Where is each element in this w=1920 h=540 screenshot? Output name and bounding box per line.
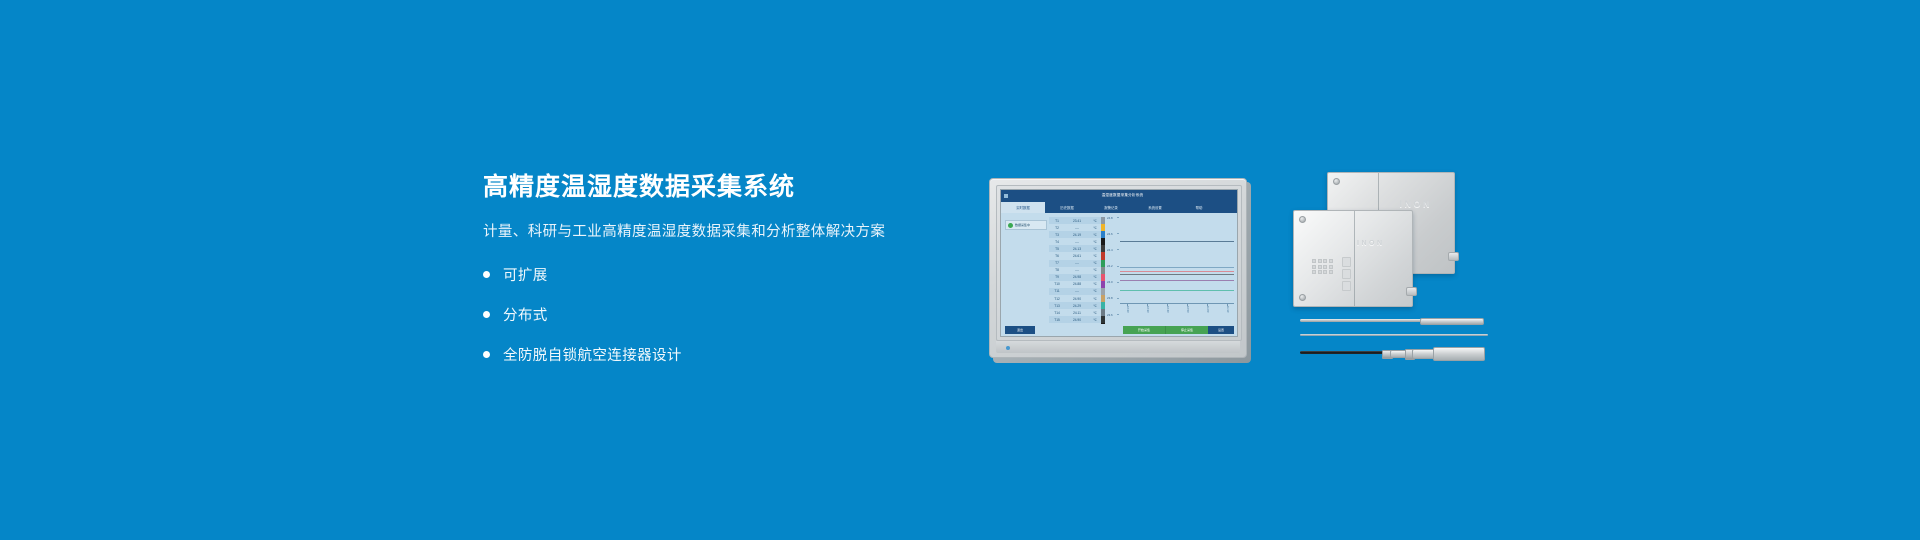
y-axis-tick (1117, 266, 1119, 267)
unit-cell: ℃ (1089, 289, 1101, 293)
channel-cell: T10 (1049, 282, 1065, 286)
unit-cell: ℃ (1089, 247, 1101, 251)
value-cell: 24.19 (1065, 233, 1089, 237)
value-cell: 24.90 (1065, 318, 1089, 322)
app-titlebar: 温湿度数据采集分析系统 (1001, 190, 1237, 201)
stop-acquisition-button[interactable]: 停止采集 (1165, 326, 1208, 334)
unit-cell: ℃ (1089, 226, 1101, 230)
value-cell: ---- (1065, 268, 1089, 272)
channel-cell: T12 (1049, 297, 1065, 301)
unit-cell: ℃ (1089, 297, 1101, 301)
table-row[interactable]: T1224.90℃ (1049, 295, 1101, 302)
value-cell: ---- (1065, 261, 1089, 265)
channel-cell: T15 (1049, 318, 1065, 322)
probe-stainless (1300, 316, 1490, 324)
etch-cell (1318, 270, 1322, 274)
bullet-dot-icon (483, 271, 490, 278)
trend-line (1120, 271, 1234, 272)
channel-cell: T1 (1049, 219, 1065, 223)
x-axis-tick-label: 10:40 (1166, 306, 1169, 313)
etch-cell (1323, 265, 1327, 269)
trend-line (1120, 274, 1234, 275)
brand-logo: INON (1357, 240, 1385, 247)
unit-cell: ℃ (1089, 318, 1101, 322)
connector-port-icon (1406, 287, 1417, 296)
tab-settings[interactable]: 系统设置 (1133, 202, 1177, 213)
channel-cell: T8 (1049, 268, 1065, 272)
value-cell: 24.98 (1065, 275, 1089, 279)
connector-housing (1433, 347, 1485, 361)
acquisition-status-label: 数据采集中 (1015, 223, 1030, 227)
app-body: 数据采集中 T123.41℃T2----℃T324.19℃T4----℃T524… (1001, 213, 1237, 324)
brand-logo: INON (1400, 199, 1433, 209)
monitor-screen: 温湿度数据采集分析系统 实时数据 历史数据 报警记录 系统设置 帮助 数据采集中… (1000, 189, 1238, 337)
value-cell: 24.90 (1065, 297, 1089, 301)
table-row[interactable]: T8----℃ (1049, 267, 1101, 274)
x-axis-tick-label: 10:30 (1146, 306, 1149, 313)
tab-help[interactable]: 帮助 (1177, 202, 1221, 213)
value-cell: ---- (1065, 289, 1089, 293)
app-title: 温湿度数据采集分析系统 (1008, 190, 1237, 201)
enclosure-seam (1354, 211, 1355, 306)
tab-alarms[interactable]: 报警记录 (1089, 202, 1133, 213)
table-row[interactable]: T1424.11℃ (1049, 309, 1101, 316)
series-color-swatch (1101, 252, 1105, 259)
settings-button[interactable]: 设置 (1208, 326, 1234, 334)
label-etching (1312, 259, 1333, 274)
channel-cell: T4 (1049, 240, 1065, 244)
etch-cell (1329, 265, 1333, 269)
chart-x-axis: 10:2010:3010:4010:5011:0011:10 (1120, 304, 1234, 314)
y-axis-tick (1117, 314, 1119, 315)
trend-line (1120, 267, 1234, 268)
screw-icon (1333, 178, 1340, 185)
tab-realtime[interactable]: 实时数据 (1001, 202, 1045, 213)
value-cell: 24.61 (1065, 254, 1089, 258)
bullet-dot-icon (483, 351, 490, 358)
port-etching-icon (1342, 257, 1351, 267)
feature-label: 全防脱自锁航空连接器设计 (503, 344, 682, 365)
list-item: 可扩展 (483, 264, 1003, 285)
trend-chart: 24.824.624.424.224.023.823.6 10:2010:301… (1107, 217, 1234, 314)
y-axis-tick-label: 24.6 (1107, 232, 1113, 236)
bullet-dot-icon (483, 311, 490, 318)
etch-cell (1312, 259, 1316, 263)
trend-line (1120, 241, 1234, 242)
screw-icon (1299, 216, 1306, 223)
exit-button[interactable]: 退出 (1005, 326, 1035, 334)
series-color-swatch (1101, 274, 1105, 281)
unit-cell: ℃ (1089, 233, 1101, 237)
probe-cable (1300, 333, 1490, 337)
table-row[interactable]: T524.13℃ (1049, 245, 1101, 252)
y-axis-tick-label: 23.8 (1107, 296, 1113, 300)
series-color-swatch (1101, 267, 1105, 274)
start-acquisition-button[interactable]: 开始采集 (1123, 326, 1165, 334)
series-color-swatch (1101, 309, 1105, 316)
unit-cell: ℃ (1089, 275, 1101, 279)
monitor-bezel: 温湿度数据采集分析系统 实时数据 历史数据 报警记录 系统设置 帮助 数据采集中… (989, 178, 1247, 358)
channel-cell: T5 (1049, 247, 1065, 251)
app-footer: 退出 开始采集 停止采集 设置 (1001, 324, 1237, 336)
list-item: 全防脱自锁航空连接器设计 (483, 344, 1003, 365)
port-etching-icon (1342, 269, 1351, 279)
channel-cell: T11 (1049, 289, 1065, 293)
series-color-swatch (1101, 302, 1105, 309)
y-axis-tick (1117, 233, 1119, 234)
series-color-swatch (1101, 245, 1105, 252)
table-row[interactable]: T7----℃ (1049, 260, 1101, 267)
channel-cell: T13 (1049, 304, 1065, 308)
footer-button-group: 开始采集 停止采集 设置 (1123, 326, 1234, 334)
x-axis-tick-label: 10:20 (1126, 306, 1129, 313)
channel-cell: T3 (1049, 233, 1065, 237)
channel-cell: T6 (1049, 254, 1065, 258)
channel-data-table: T123.41℃T2----℃T324.19℃T4----℃T524.13℃T6… (1049, 217, 1101, 331)
channel-cell: T7 (1049, 261, 1065, 265)
list-item: 分布式 (483, 304, 1003, 325)
table-row[interactable]: T624.61℃ (1049, 252, 1101, 259)
table-row[interactable]: T11----℃ (1049, 288, 1101, 295)
unit-cell: ℃ (1089, 261, 1101, 265)
unit-cell: ℃ (1089, 240, 1101, 244)
unit-cell: ℃ (1089, 304, 1101, 308)
table-row[interactable]: T2----℃ (1049, 224, 1101, 231)
connector-port-icon (1448, 252, 1459, 261)
probe-rod (1300, 319, 1426, 322)
value-cell: 24.29 (1065, 304, 1089, 308)
unit-cell: ℃ (1089, 282, 1101, 286)
feature-label: 可扩展 (503, 264, 548, 285)
y-axis-tick-label: 24.4 (1107, 248, 1113, 252)
etch-cell (1318, 259, 1322, 263)
monitor-product-image: 温湿度数据采集分析系统 实时数据 历史数据 报警记录 系统设置 帮助 数据采集中… (989, 178, 1251, 363)
etch-cell (1318, 265, 1322, 269)
y-axis-tick-label: 24.8 (1107, 216, 1113, 220)
table-row[interactable]: T4----℃ (1049, 238, 1101, 245)
x-axis-tick-label: 11:10 (1226, 306, 1229, 312)
series-color-swatch (1101, 316, 1105, 323)
page-title: 高精度温湿度数据采集系统 (483, 172, 1003, 202)
etch-cell (1329, 259, 1333, 263)
table-row[interactable]: T1024.88℃ (1049, 281, 1101, 288)
series-color-swatch (1101, 231, 1105, 238)
value-cell: 24.13 (1065, 247, 1089, 251)
chart-y-axis: 24.824.624.424.224.023.823.6 (1107, 217, 1119, 314)
table-row[interactable]: T324.19℃ (1049, 231, 1101, 238)
monitor-chin (996, 341, 1240, 353)
probe-cable (1300, 334, 1488, 336)
tab-history[interactable]: 历史数据 (1045, 202, 1089, 213)
y-axis-tick (1117, 282, 1119, 283)
table-row[interactable]: T1324.29℃ (1049, 302, 1101, 309)
value-cell: 24.11 (1065, 311, 1089, 315)
acquisition-status-button[interactable]: 数据采集中 (1005, 220, 1047, 230)
channel-cell: T14 (1049, 311, 1065, 315)
etch-cell (1329, 270, 1333, 274)
port-etching-icon (1342, 281, 1351, 291)
unit-cell: ℃ (1089, 254, 1101, 258)
y-axis-tick-label: 24.0 (1107, 280, 1113, 284)
series-color-swatch (1101, 288, 1105, 295)
trend-line (1120, 280, 1234, 281)
feature-list: 可扩展 分布式 全防脱自锁航空连接器设计 (483, 264, 1003, 365)
table-row[interactable]: T123.41℃ (1049, 217, 1101, 224)
page-subtitle: 计量、科研与工业高精度温湿度数据采集和分析整体解决方案 (483, 222, 1003, 242)
etch-cell (1323, 270, 1327, 274)
y-axis-tick (1117, 249, 1119, 250)
status-indicator-icon (1008, 223, 1013, 228)
value-cell: 23.41 (1065, 219, 1089, 223)
feature-label: 分布式 (503, 304, 548, 325)
series-color-swatches (1101, 217, 1105, 331)
y-axis-tick-label: 23.6 (1107, 313, 1113, 317)
unit-cell: ℃ (1089, 311, 1101, 315)
power-led-icon (1006, 346, 1010, 350)
unit-cell: ℃ (1089, 268, 1101, 272)
promo-banner: 高精度温湿度数据采集系统 计量、科研与工业高精度温湿度数据采集和分析整体解决方案… (0, 0, 1920, 540)
enclosure-front-unit: INON (1293, 210, 1413, 307)
copy-block: 高精度温湿度数据采集系统 计量、科研与工业高精度温湿度数据采集和分析整体解决方案… (483, 172, 1003, 384)
unit-cell: ℃ (1089, 219, 1101, 223)
y-axis-tick (1117, 298, 1119, 299)
y-axis-tick-label: 24.2 (1107, 264, 1113, 268)
table-row[interactable]: T924.98℃ (1049, 274, 1101, 281)
trend-line (1120, 290, 1234, 291)
probe-product-images (1300, 314, 1490, 366)
x-axis-tick-label: 10:50 (1186, 306, 1189, 313)
series-color-swatch (1101, 224, 1105, 231)
x-axis-tick-label: 11:00 (1206, 306, 1209, 312)
channel-cell: T9 (1049, 275, 1065, 279)
value-cell: 24.88 (1065, 282, 1089, 286)
table-row[interactable]: T1524.90℃ (1049, 316, 1101, 323)
probe-cable (1300, 351, 1386, 354)
series-color-swatch (1101, 260, 1105, 267)
probe-tip (1420, 318, 1484, 325)
etch-cell (1323, 259, 1327, 263)
etch-cell (1312, 270, 1316, 274)
app-tab-bar[interactable]: 实时数据 历史数据 报警记录 系统设置 帮助 (1001, 201, 1237, 213)
chart-plot-area (1120, 217, 1234, 304)
channel-cell: T2 (1049, 226, 1065, 230)
value-cell: ---- (1065, 240, 1089, 244)
probe-aviation-connector (1300, 346, 1490, 360)
screw-icon (1299, 294, 1306, 301)
series-color-swatch (1101, 238, 1105, 245)
series-color-swatch (1101, 295, 1105, 302)
series-color-swatch (1101, 281, 1105, 288)
y-axis-tick (1117, 217, 1119, 218)
etch-cell (1312, 265, 1316, 269)
series-color-swatch (1101, 217, 1105, 224)
value-cell: ---- (1065, 226, 1089, 230)
